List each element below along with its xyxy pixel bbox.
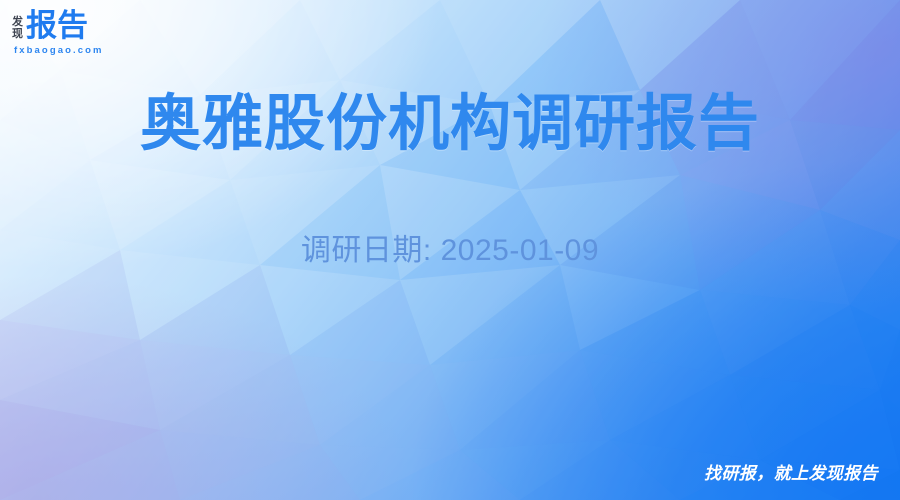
logo-url: fxbaogao.com [14, 45, 242, 56]
report-date-subtitle: 调研日期: 2025-01-09 [0, 232, 900, 270]
site-logo[interactable]: 发 现 报告 fxbaogao.com [12, 8, 242, 60]
logo-wordmark: 报告 [26, 10, 88, 42]
report-cover-slide: 发 现 报告 fxbaogao.com 奥雅股份机构调研报告 调研日期: 202… [0, 0, 900, 500]
logo-wordmark-row: 发 现 报告 [12, 8, 242, 42]
footer-tagline: 找研报，就上发现报告 [704, 459, 878, 484]
cover-headline-block: 奥雅股份机构调研报告 调研日期: 2025-01-09 [0, 84, 900, 270]
page-title: 奥雅股份机构调研报告 [0, 84, 900, 162]
logo-mark-char-top: 发 [12, 16, 23, 28]
logo-mark-fxiande: 发 现 [12, 16, 23, 42]
logo-mark-char-bottom: 现 [12, 28, 23, 40]
